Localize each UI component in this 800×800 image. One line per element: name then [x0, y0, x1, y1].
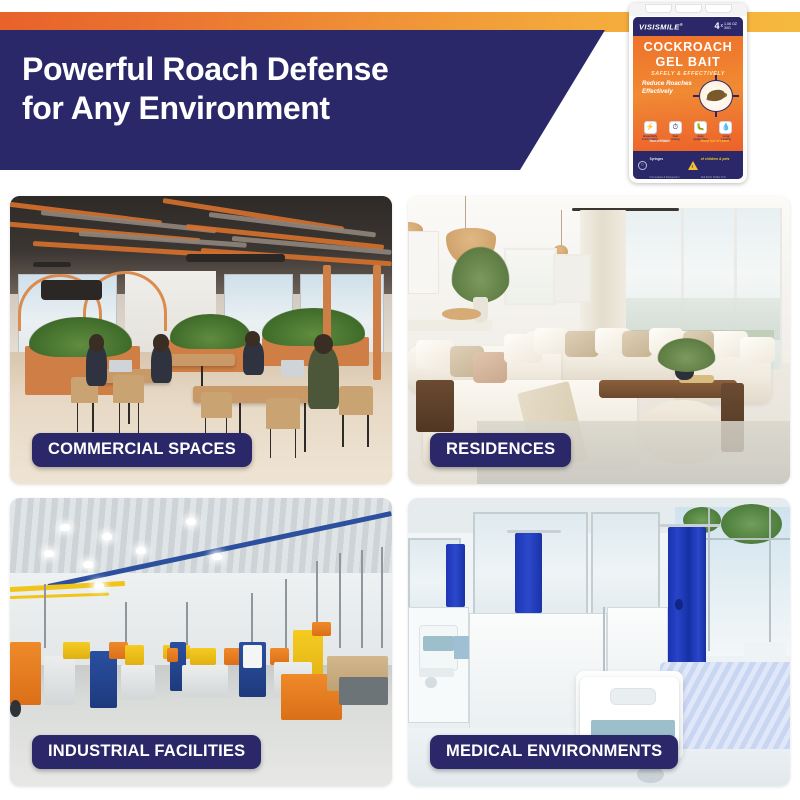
- package-brand-bar: VISISMILE® 4 x 1.06 OZ 30G: [633, 17, 743, 36]
- footer-warning-block: Keep out of reachof children & pets SEE …: [688, 129, 738, 179]
- crosshair-roach-icon: [693, 75, 739, 117]
- warning-triangle-icon: [688, 161, 698, 170]
- card-commercial-spaces[interactable]: COMMERCIAL SPACES: [10, 196, 392, 484]
- card-industrial-facilities[interactable]: INDUSTRIAL FACILITIES: [10, 498, 392, 786]
- footer-left-subtext: Formulated & Designed in USA: [650, 176, 680, 179]
- card-label-commercial-spaces: COMMERCIAL SPACES: [32, 433, 252, 467]
- count-multiplier: x: [721, 24, 724, 29]
- card-label-residences: RESIDENCES: [430, 433, 571, 467]
- package-hang-tabs: [629, 3, 747, 16]
- poster-canvas: Powerful Roach Defense for Any Environme…: [0, 0, 800, 800]
- title-line-2: GEL BAIT: [633, 55, 743, 70]
- footer-left-block: ○ Non-refillable Syringes Formulated & D…: [638, 129, 684, 179]
- subhead-line-2: Effectively: [642, 88, 673, 95]
- subhead-line-1: Reduce Roaches: [642, 80, 692, 87]
- brand-logo: VISISMILE®: [639, 22, 683, 32]
- headline-line-1: Powerful Roach Defense: [22, 51, 388, 87]
- card-medical-environments[interactable]: MEDICAL ENVIRONMENTS: [408, 498, 790, 786]
- warning-text: Keep out of reachof children & pets: [701, 139, 730, 161]
- syringe-icon: ○: [638, 161, 647, 170]
- environment-card-grid: COMMERCIAL SPACES: [10, 196, 790, 786]
- package-footer: ○ Non-refillable Syringes Formulated & D…: [633, 151, 743, 179]
- package-body: VISISMILE® 4 x 1.06 OZ 30G COCKROACH GEL…: [629, 3, 747, 183]
- warning-subtext: SEE BACK PANEL FOR PRECAUTIONS: [701, 177, 726, 179]
- headline-line-2: for Any Environment: [22, 89, 388, 128]
- footer-left-text: Non-refillable Syringes: [650, 139, 670, 161]
- product-package: VISISMILE® 4 x 1.06 OZ 30G COCKROACH GEL…: [629, 3, 747, 183]
- net-weight-g: 30G: [724, 27, 737, 31]
- page-title: Powerful Roach Defense for Any Environme…: [22, 50, 388, 128]
- count-number: 4: [715, 22, 720, 32]
- card-label-medical-environments: MEDICAL ENVIRONMENTS: [430, 735, 678, 769]
- package-title: COCKROACH GEL BAIT SAFELY & EFFECTIVELY: [633, 40, 743, 77]
- title-line-1: COCKROACH: [633, 40, 743, 55]
- card-label-industrial-facilities: INDUSTRIAL FACILITIES: [32, 735, 261, 769]
- package-label-face: VISISMILE® 4 x 1.06 OZ 30G COCKROACH GEL…: [633, 17, 743, 179]
- package-count: 4 x 1.06 OZ 30G: [715, 22, 738, 32]
- card-residences[interactable]: RESIDENCES: [408, 196, 790, 484]
